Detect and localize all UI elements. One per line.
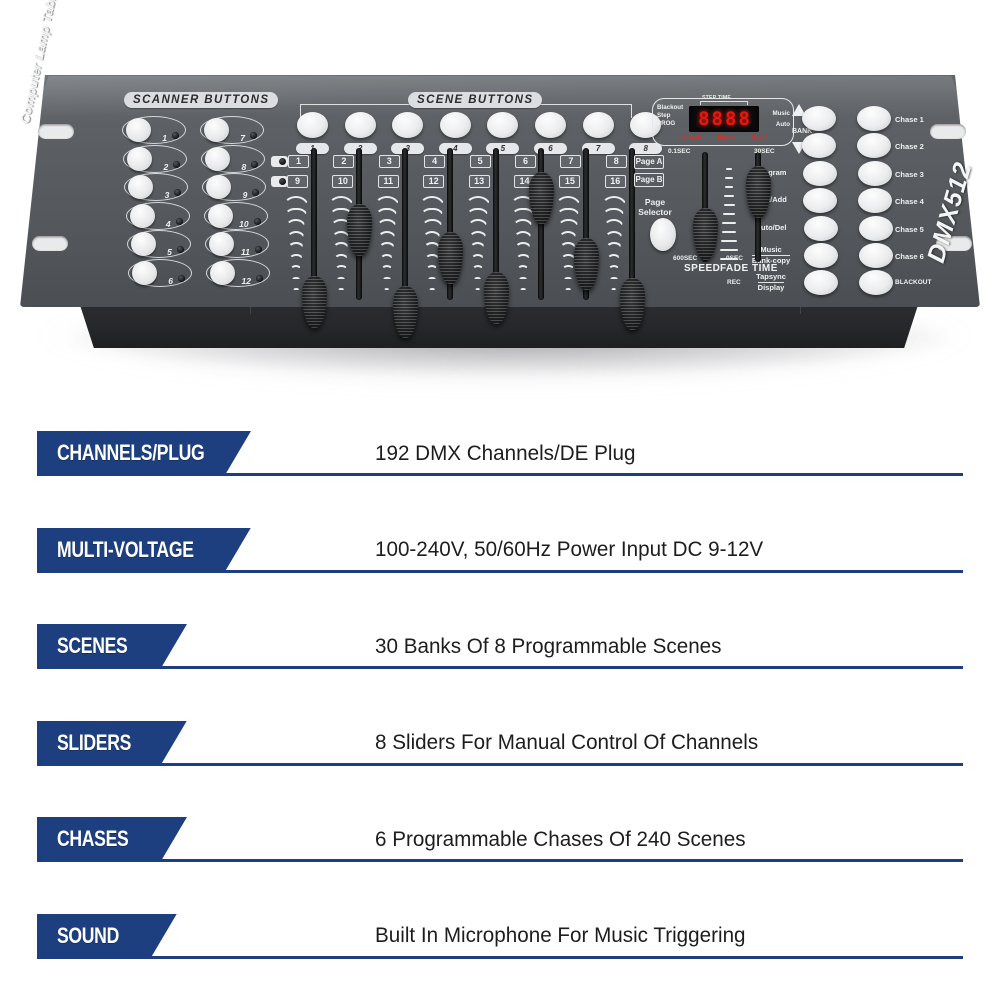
scanner-button-11[interactable]: 11 [205,230,269,258]
scanner-button-3[interactable]: 3 [124,173,188,201]
feature-tag-shape: CHASES [37,817,187,861]
feature-description: 192 DMX Channels/DE Plug [375,433,635,473]
led-digit-3: 8 [725,110,736,129]
rec-label: REC [727,279,741,286]
fader-scale-arc [338,288,346,292]
feature-tag: SCENES [37,624,187,668]
scene-button-label-4: 4 [439,143,472,154]
step-label: Step [657,112,683,120]
scanner-button-number: 11 [241,247,250,257]
scene-buttons-caption: SCENE BUTTONS [408,92,542,108]
channel-number-2: 2 [333,155,354,168]
scanner-button-5[interactable]: 5 [127,230,191,258]
channel-number-6: 6 [515,155,536,168]
feature-description: Built In Microphone For Music Triggering [375,916,746,956]
fader-scale-arc [607,254,622,260]
fader-scale-arc [423,231,442,239]
fader-scale-arc [380,254,395,260]
fader-scale-arc [558,219,579,228]
fader-scale-arc [374,196,400,207]
fader-scale-arc [286,231,305,239]
scene-label: Scene [717,134,736,141]
fader-scale-arc [377,231,396,239]
scanner-led-icon [176,218,183,225]
scanner-button-number: 8 [241,162,246,172]
chase-button-chase-6[interactable] [859,243,893,268]
scanner-button-8[interactable]: 8 [201,145,265,173]
channel-number-3: 3 [379,155,400,168]
feature-tag: MULTI-VOLTAGE [37,528,251,572]
fader-track[interactable] [402,148,408,300]
feature-tag-shape: SOUND [37,914,177,958]
feature-tag-label: CHASES [57,826,128,852]
scene-button-1[interactable] [297,112,328,138]
feature-tag: SLIDERS [37,721,187,765]
fader-scale-arc [601,196,627,207]
fader-scale-arc [375,208,399,218]
scanner-led-icon [250,132,257,139]
fader-scale-arc [517,265,529,270]
fader-scale-arc [288,242,305,249]
prog-label: PROG [657,120,683,128]
time-caption: TIME [752,263,778,274]
fader-scale-arc [559,231,578,239]
fader-scale-arc [473,277,483,281]
scanner-led-icon [255,246,262,253]
function-label-auto-del: Auto/Del [742,224,800,233]
function-button-5[interactable] [804,216,838,241]
bank-label: Bank [752,134,768,141]
rack-mount-slot [930,124,966,139]
scanner-led-icon [172,132,179,139]
page-a-button[interactable]: Page A [634,155,664,169]
fader-scale-arc [467,219,488,228]
channel-indicator-lamp [271,176,288,187]
step-time-bracket [700,101,748,105]
fade-caption: FADE [720,263,749,274]
fade-time-tick [722,231,737,233]
scanner-led-icon [254,218,261,225]
page-selector-line2: Selector [638,207,672,217]
fade-time-tick [726,168,732,170]
fade-time-tick [721,240,737,242]
feature-tag-shape: MULTI-VOLTAGE [37,528,251,572]
page-selector-knob[interactable] [650,218,676,251]
fader-scale-arc [376,219,397,228]
feature-list: CHANNELS/PLUG192 DMX Channels/DE PlugMUL… [0,400,1000,1000]
fader-scale-arc [603,219,624,228]
fader-scale-arc [468,231,487,239]
scanner-led-icon [178,275,185,282]
scanner-button-number: 7 [240,133,245,143]
feature-row-scenes: SCENES30 Banks Of 8 Programmable Scenes [0,624,1000,688]
time-max-label: 30SEC [754,148,775,155]
page-b-button[interactable]: Page B [634,173,664,187]
fader-scale-arc [557,208,581,218]
channel-number-12: 12 [423,175,444,188]
scanner-button-9[interactable]: 9 [202,173,266,201]
speed-max-label: 0.1SEC [668,148,690,155]
feature-tag-label: CHANNELS/PLUG [57,440,204,466]
scene-button-label-5: 5 [486,143,519,154]
chase-button-chase-5[interactable] [859,216,893,241]
fader-scale-arc [565,288,573,292]
scanner-button-6[interactable]: 6 [128,259,192,287]
feature-description: 6 Programmable Chases Of 240 Scenes [375,819,746,859]
fade-time-scale [718,168,740,264]
fade-time-tick [724,195,734,197]
feature-description: 30 Banks Of 8 Programmable Scenes [375,626,721,666]
fader-scale-arc [335,265,347,270]
feature-tag: SOUND [37,914,177,958]
scanner-button-cap[interactable] [205,147,230,171]
scanner-button-number: 10 [239,219,248,229]
fader-scale-arc [290,265,302,270]
function-button-3[interactable] [803,161,837,186]
fader-scale-arc [472,265,484,270]
infographic-page: Computer Lamp Table Controller DMX512 SC… [0,0,1000,1000]
feature-tag-shape: SCENES [37,624,187,668]
led-digit-1: 8 [698,110,709,129]
fader-scale-arc [605,242,622,249]
feature-tag-label: MULTI-VOLTAGE [57,537,194,563]
speed-caption: SPEED [684,263,720,274]
scanner-button-number: 6 [168,276,173,286]
fader-scale-arc [378,242,395,249]
scanner-button-number: 3 [165,190,170,200]
channel-number-10: 10 [332,175,353,188]
feature-tag-label: SCENES [57,633,127,659]
display-left-labels: Blackout Step PROG [657,104,683,128]
fade-time-tick [725,177,732,179]
fader-scale-arc [602,208,626,218]
feature-tag: CHASES [37,817,187,861]
chase-label-chase-6: Chase 6 [895,252,924,261]
scanner-button-1[interactable]: 1 [122,116,186,144]
scanner-button-cap[interactable] [130,204,155,228]
fader-track[interactable] [538,148,544,300]
fader-scale-arc [563,277,573,281]
scanner-button-cap[interactable] [127,147,152,171]
scanner-button-12[interactable]: 12 [206,259,270,287]
time-min-label: 0SEC [726,255,743,262]
chase-label-blackout: BLACKOUT [895,279,931,286]
led-digit-2: 8 [712,110,723,129]
fader-scale-arc [469,242,486,249]
product-image-dmx-controller: Computer Lamp Table Controller DMX512 SC… [0,0,1000,400]
fader-scale-arc [519,288,527,292]
fader-scale-arc [292,288,300,292]
led-display: 8 8 8 8 [689,106,759,132]
scanner-button-7[interactable]: 7 [200,116,264,144]
scanner-button-number: 1 [162,133,167,143]
scanner-led-icon [177,246,184,253]
scene-button-3[interactable] [392,112,423,138]
auto-label: Auto [766,119,790,130]
chase-label-chase-2: Chase 2 [895,142,924,151]
chase-button-chase-1[interactable] [857,106,891,131]
display-under-labels: Chase Scene Bank [682,134,768,141]
channel-number-8: 8 [606,155,627,168]
fader-scale-arc [291,277,301,281]
scanner-button-number: 2 [163,162,168,172]
feature-description: 8 Sliders For Manual Control Of Channels [375,723,758,763]
fader-scale-arc [518,277,528,281]
page-selector-line1: Page [645,197,665,207]
scanner-led-icon [251,161,258,168]
fader-scale-arc [289,254,304,260]
function-label-line1: Music [760,245,781,254]
fader-scale-arc [285,219,306,228]
scanner-button-number: 4 [166,219,171,229]
channel-number-11: 11 [378,175,399,188]
chase-label-chase-1: Chase 1 [895,115,924,124]
rack-mount-slot [32,236,68,251]
function-label-line2: Display [758,282,785,293]
blackout-label: Blackout [657,104,683,112]
fader-scale-arc [428,288,436,292]
fader-scale-arc [381,265,393,270]
fader-scale-arc [512,219,533,228]
scanner-button-cap[interactable] [209,232,234,256]
channel-number-1: 1 [288,155,309,168]
display-right-labels: Music Auto [766,108,790,130]
channel-number-7: 7 [560,155,581,168]
feature-tag-shape: CHANNELS/PLUG [37,431,251,475]
feature-tag-label: SOUND [57,923,119,949]
fader-scale-arc [516,254,531,260]
scanner-led-icon [256,275,263,282]
scanner-led-icon [173,161,180,168]
channel-number-16: 16 [605,175,626,188]
function-button-1[interactable] [802,106,836,131]
feature-tag-label: SLIDERS [57,730,131,756]
channel-number-13: 13 [469,175,490,188]
fader-scale-arc [421,219,442,228]
feature-row-multi-voltage: MULTI-VOLTAGE100-240V, 50/60Hz Power Inp… [0,528,1000,592]
scanner-buttons-caption: SCANNER BUTTONS [124,92,278,108]
music-label: Music [766,108,790,119]
function-label-tapsync: TapsyncDisplay [742,273,800,292]
fader-scale-arc [608,265,620,270]
channel-indicator-lamp [271,156,288,167]
fader-scale-arc [515,242,532,249]
scene-button-4[interactable] [440,112,471,138]
fader-scale-arc [382,277,392,281]
scanner-button-cap[interactable] [126,118,151,142]
feature-row-chases: CHASES6 Programmable Chases Of 240 Scene… [0,817,1000,881]
channel-number-15: 15 [559,175,580,188]
rack-mount-slot [38,124,74,139]
led-digit-4: 8 [738,110,749,129]
fader-scale-arc [513,231,532,239]
fader-scale-arc [334,254,349,260]
fade-time-tick [725,186,734,188]
scanner-button-number: 5 [167,247,172,257]
feature-row-channels-plug: CHANNELS/PLUG192 DMX Channels/DE Plug [0,431,1000,495]
chase-label: Chase [682,134,702,141]
fader-scale-arc [466,208,490,218]
fade-time-tick [724,204,735,206]
fader-scale-arc [474,288,482,292]
channel-number-4: 4 [424,155,445,168]
chase-button-chase-3[interactable] [858,161,892,186]
chase-label-chase-4: Chase 4 [895,197,924,206]
fader-scale-arc [609,277,619,281]
fader-scale-arc [555,196,581,207]
fader-scale-arc [465,196,491,207]
scanner-button-number: 9 [243,190,248,200]
scanner-button-2[interactable]: 2 [123,145,187,173]
fader-scale-arc [283,196,309,207]
fader-scale-arc [427,277,437,281]
scene-button-6[interactable] [535,112,566,138]
fader-scale-arc [470,254,485,260]
fader-scale-arc [420,208,444,218]
scene-button-2[interactable] [345,112,376,138]
fader-scale-arc [604,231,623,239]
fader-scale-arc [333,242,350,249]
fade-time-tick [720,249,737,251]
fader-scale-arc [426,265,438,270]
feature-description: 100-240V, 50/60Hz Power Input DC 9-12V [375,530,763,570]
page-selector-label: Page Selector [638,198,672,217]
scanner-button-4[interactable]: 4 [126,202,190,230]
speed-min-label: 600SEC [673,255,697,262]
fader-scale-arc [419,196,445,207]
fader-scale-arc [328,196,354,207]
fader-scale-arc [383,288,391,292]
scene-button-7[interactable] [583,112,614,138]
function-button-6[interactable] [804,243,838,268]
scanner-button-10[interactable]: 10 [204,202,268,230]
feature-row-sound: SOUNDBuilt In Microphone For Music Trigg… [0,914,1000,978]
feature-tag-shape: SLIDERS [37,721,187,765]
chase-label-chase-3: Chase 3 [895,170,924,179]
channel-number-5: 5 [470,155,491,168]
channel-number-9: 9 [287,175,308,188]
fader-scale-arc [562,265,574,270]
feature-tag: CHANNELS/PLUG [37,431,251,475]
fade-time-tick [723,213,735,215]
fade-time-tick [722,222,736,224]
scanner-button-number: 12 [242,276,251,286]
fader-scale-arc [284,208,308,218]
scanner-button-cap[interactable] [131,232,156,256]
scanner-button-cap[interactable] [210,261,235,285]
feature-row-sliders: SLIDERS8 Sliders For Manual Control Of C… [0,721,1000,785]
chase-label-chase-5: Chase 5 [895,225,924,234]
fader-scale-arc [336,277,346,281]
fader-scale-arc [610,288,618,292]
scanner-button-cap[interactable] [132,261,157,285]
scanner-button-cap[interactable] [208,204,233,228]
scanner-button-cap[interactable] [204,118,229,142]
